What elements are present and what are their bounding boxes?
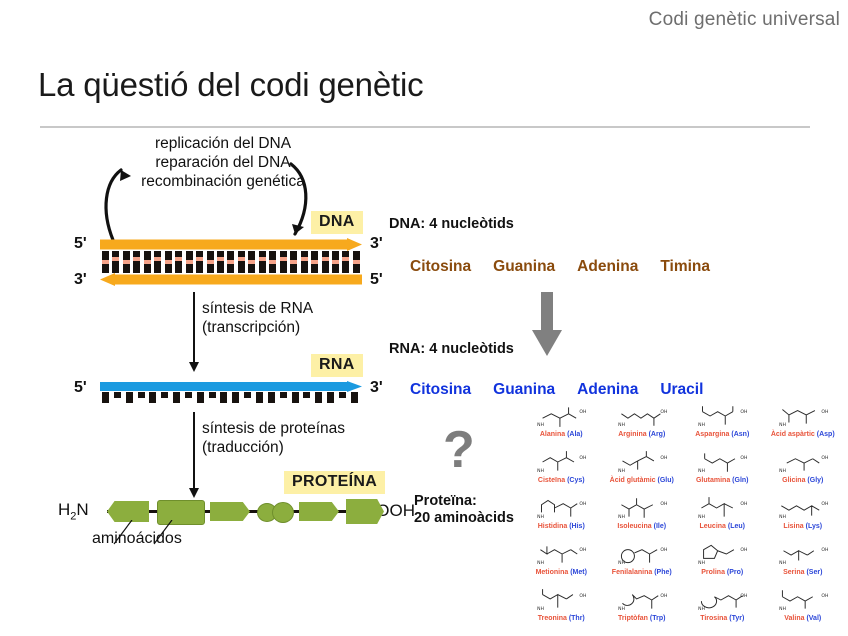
amino-acid-name-text: Treonina	[538, 615, 569, 622]
amino-acid-abbreviation: (Gly)	[807, 477, 823, 484]
base-pair	[280, 251, 287, 273]
base-pair	[353, 251, 360, 273]
amino-acid-abbreviation: (Leu)	[728, 523, 745, 530]
amino-acid-abbreviation: (Thr)	[569, 615, 585, 622]
rna-single-strand	[100, 381, 362, 403]
amino-acid-name: Triptòfan (Trp)	[602, 614, 683, 623]
amino-acid-name: Àcid glutàmic (Glu)	[602, 476, 683, 485]
replication-loop-arrow-icon	[95, 152, 325, 244]
rna-tick	[256, 392, 263, 403]
amino-acid-name: Isoleucina (Ile)	[602, 522, 683, 531]
rna-tick	[114, 392, 121, 398]
amino-acid-abbreviation: (Gln)	[732, 477, 748, 484]
base-pair	[112, 251, 119, 273]
rna-nucleotides-heading: RNA: 4 nucleòtids	[389, 341, 514, 357]
rna-tick	[149, 392, 156, 403]
rna-tick	[161, 392, 168, 398]
svg-text:OH: OH	[580, 501, 587, 507]
svg-text:OH: OH	[660, 547, 667, 553]
svg-text:OH: OH	[741, 501, 748, 507]
dna-3prime-top-tick: 3'	[370, 235, 383, 253]
svg-text:NH: NH	[779, 514, 786, 520]
amino-acid-cell: OHNHIsoleucina (Ile)	[602, 494, 683, 540]
amino-acid-name: Glutamina (Gln)	[682, 476, 763, 485]
base-pair	[342, 251, 349, 273]
amino-acid-residue	[272, 502, 294, 523]
amino-acid-abbreviation: (Lys)	[806, 523, 822, 530]
amino-acid-name: Fenilalanina (Phe)	[602, 568, 683, 577]
amino-acid-structure-icon: OHNH	[521, 494, 602, 522]
amino-acid-name-text: Arginina	[618, 431, 648, 438]
amino-acid-cell: OHNHProlina (Pro)	[682, 540, 763, 586]
amino-acid-structure-icon: OHNH	[682, 448, 763, 476]
dna-badge: DNA	[311, 211, 363, 234]
base-pair	[133, 251, 140, 273]
amino-acid-name: Prolina (Pro)	[682, 568, 763, 577]
base-pair	[165, 251, 172, 273]
dna-5prime-top-tick: 5'	[74, 235, 87, 253]
amino-acid-structure-icon: OHNH	[521, 586, 602, 614]
amino-acid-abbreviation: (Phe)	[654, 569, 672, 576]
translation-line-1: síntesis de proteínas	[202, 419, 345, 438]
svg-text:NH: NH	[537, 560, 544, 566]
n-terminus-label: H2N	[58, 500, 89, 522]
amino-acid-structure-icon: OHNH	[521, 448, 602, 476]
amino-acid-structure-icon: OHNH	[682, 540, 763, 568]
amino-acid-name: Metionina (Met)	[521, 568, 602, 577]
dna-3prime-bottom-tick: 3'	[74, 271, 87, 289]
rna-tick	[351, 392, 358, 403]
svg-text:OH: OH	[580, 455, 587, 461]
amino-acid-name-text: Aspargina	[695, 431, 731, 438]
amino-acid-abbreviation: (Val)	[806, 615, 821, 622]
amino-acid-cell: OHNHLisina (Lys)	[763, 494, 844, 540]
amino-acid-name-text: Fenilalanina	[612, 569, 654, 576]
svg-text:OH: OH	[741, 593, 748, 599]
amino-acid-structure-icon: OHNH	[682, 494, 763, 522]
svg-text:OH: OH	[660, 501, 667, 507]
amino-acid-name-text: Tirosina	[700, 615, 729, 622]
transcription-arrow-shaft	[193, 292, 195, 364]
svg-text:NH: NH	[698, 514, 705, 520]
rna-tick	[327, 392, 334, 403]
base-pair	[144, 251, 151, 273]
amino-acid-name: Àcid aspàrtic (Asp)	[763, 430, 844, 439]
amino-acid-cell: OHNHCisteïna (Cys)	[521, 448, 602, 494]
rna-3prime-tick: 3'	[370, 379, 383, 397]
amino-acid-residue	[210, 502, 250, 521]
amino-acid-name-text: Isoleucina	[617, 523, 653, 530]
amino-acid-cell: OHNHTirosina (Tyr)	[682, 586, 763, 632]
amino-acid-cell: OHNHHistidina (His)	[521, 494, 602, 540]
amino-acid-structure-icon: OHNH	[521, 540, 602, 568]
translation-line-2: (traducción)	[202, 438, 345, 457]
amino-acid-name-text: Cisteïna	[538, 477, 567, 484]
amino-acid-residue	[346, 499, 384, 524]
svg-text:OH: OH	[821, 455, 828, 461]
dna-5prime-bottom-tick: 5'	[370, 271, 383, 289]
translation-arrow-shaft	[193, 412, 195, 490]
n-terminus-n: N	[76, 500, 88, 519]
base-pair	[269, 251, 276, 273]
dna-to-rna-arrow-icon	[536, 292, 558, 356]
amino-acid-abbreviation: (His)	[569, 523, 585, 530]
amino-acid-residue	[107, 501, 149, 522]
amino-acid-name-text: Alanina	[540, 431, 567, 438]
amino-acid-name: Arginina (Arg)	[602, 430, 683, 439]
svg-text:NH: NH	[618, 468, 625, 474]
rna-tick	[173, 392, 180, 403]
base-pair	[102, 251, 109, 273]
amino-acid-name-text: Glicina	[782, 477, 807, 484]
amino-acid-structure-icon: OHNH	[763, 448, 844, 476]
amino-acid-structure-icon: OHNH	[763, 586, 844, 614]
rna-tick	[315, 392, 322, 403]
amino-acid-cell: OHNHGlicina (Gly)	[763, 448, 844, 494]
base-pair	[290, 251, 297, 273]
amino-acid-name: Histidina (His)	[521, 522, 602, 531]
nucleotide-adenina: Adenina	[577, 258, 638, 276]
base-pair	[227, 251, 234, 273]
rna-tick	[339, 392, 346, 398]
base-pair	[311, 251, 318, 273]
amino-acid-abbreviation: (Arg)	[649, 431, 666, 438]
amino-acid-cell: OHNHFenilalanina (Phe)	[602, 540, 683, 586]
slide-root: Codi genètic universal La qüestió del co…	[0, 0, 848, 636]
amino-acid-cell: OHNHTreonina (Thr)	[521, 586, 602, 632]
rna-tick	[126, 392, 133, 403]
amino-acid-name: Glicina (Gly)	[763, 476, 844, 485]
amino-acid-abbreviation: (Cys)	[567, 477, 585, 484]
dna-nucleotide-list: Citosina Guanina Adenina Timina	[410, 258, 710, 276]
nucleotide-adenina-rna: Adenina	[577, 381, 638, 399]
loop-line-1: replicación del DNA	[108, 134, 338, 153]
svg-text:NH: NH	[537, 468, 544, 474]
amino-acid-cell: OHNHGlutamina (Gln)	[682, 448, 763, 494]
base-pair	[301, 251, 308, 273]
nucleotide-guanina: Guanina	[493, 258, 555, 276]
amino-acid-name-text: Glutamina	[696, 477, 732, 484]
rna-nucleotide-ticks	[102, 392, 358, 403]
question-mark: ?	[443, 424, 475, 476]
svg-text:NH: NH	[618, 606, 625, 612]
amino-acid-abbreviation: (Asn)	[731, 431, 749, 438]
base-pair	[186, 251, 193, 273]
amino-acid-name: Treonina (Thr)	[521, 614, 602, 623]
amino-acid-abbreviation: (Met)	[570, 569, 587, 576]
amino-acid-abbreviation: (Asp)	[817, 431, 835, 438]
amino-acid-abbreviation: (Pro)	[727, 569, 743, 576]
header-title: Codi genètic universal	[649, 9, 840, 31]
svg-text:OH: OH	[821, 593, 828, 599]
title-divider	[40, 126, 810, 128]
dna-coding-strand-arrow	[100, 273, 362, 286]
svg-text:NH: NH	[698, 468, 705, 474]
amino-acid-name: Alanina (Ala)	[521, 430, 602, 439]
rna-5prime-tick: 5'	[74, 379, 87, 397]
rna-badge: RNA	[311, 354, 363, 377]
svg-text:NH: NH	[537, 514, 544, 520]
amino-acid-structure-icon: OHNH	[602, 586, 683, 614]
amino-acid-name: Tirosina (Tyr)	[682, 614, 763, 623]
svg-text:OH: OH	[821, 501, 828, 507]
nucleotide-timina: Timina	[660, 258, 710, 276]
rna-nucleotide-list: Citosina Guanina Adenina Uracil	[410, 381, 703, 399]
rna-tick	[232, 392, 239, 403]
svg-text:OH: OH	[580, 593, 587, 599]
svg-text:OH: OH	[821, 547, 828, 553]
svg-text:NH: NH	[779, 468, 786, 474]
amino-acid-abbreviation: (Tyr)	[729, 615, 744, 622]
amino-acid-structure-icon: OHNH	[763, 494, 844, 522]
amino-acid-cell: OHNHAspargina (Asn)	[682, 402, 763, 448]
amino-acid-name: Serina (Ser)	[763, 568, 844, 577]
rna-tick	[209, 392, 216, 398]
amino-acid-cell: OHNHLeucina (Leu)	[682, 494, 763, 540]
amino-acid-structure-icon: OHNH	[521, 402, 602, 430]
rna-tick	[268, 392, 275, 403]
amino-acid-name: Cisteïna (Cys)	[521, 476, 602, 485]
base-pair	[322, 251, 329, 273]
amino-acid-name: Aspargina (Asn)	[682, 430, 763, 439]
rna-tick	[303, 392, 310, 398]
svg-text:OH: OH	[741, 547, 748, 553]
base-pair	[217, 251, 224, 273]
page-title: La qüestió del codi genètic	[38, 66, 423, 104]
svg-text:OH: OH	[660, 593, 667, 599]
amino-acid-name-text: Histidina	[538, 523, 570, 530]
rna-tick	[138, 392, 145, 398]
svg-text:NH: NH	[618, 422, 625, 428]
svg-text:NH: NH	[698, 606, 705, 612]
svg-text:OH: OH	[660, 409, 667, 415]
base-pair	[238, 251, 245, 273]
transcription-line-2: (transcripción)	[202, 318, 313, 337]
amino-acid-residue	[299, 502, 339, 521]
amino-acid-structure-icon: OHNH	[602, 494, 683, 522]
amino-acid-cell: OHNHÀcid glutàmic (Glu)	[602, 448, 683, 494]
amino-acid-name: Valina (Val)	[763, 614, 844, 623]
amino-acid-cell: OHNHArginina (Arg)	[602, 402, 683, 448]
dna-base-pair-ladder	[102, 251, 360, 273]
amino-acid-abbreviation: (Glu)	[658, 477, 674, 484]
svg-text:OH: OH	[741, 455, 748, 461]
svg-text:NH: NH	[537, 606, 544, 612]
amino-acid-name-text: Àcid glutàmic	[610, 477, 658, 484]
svg-text:NH: NH	[779, 606, 786, 612]
base-pair	[332, 251, 339, 273]
amino-acid-cell: OHNHSerina (Ser)	[763, 540, 844, 586]
amino-acid-abbreviation: (Trp)	[650, 615, 666, 622]
rna-tick	[292, 392, 299, 403]
dna-nucleotides-heading: DNA: 4 nucleòtids	[389, 216, 514, 232]
protein-amino-acid-count-label: Proteïna: 20 aminoàcids	[414, 493, 514, 527]
rna-tick	[102, 392, 109, 403]
svg-text:NH: NH	[618, 514, 625, 520]
amino-acids-annotation: aminoácidos	[92, 530, 182, 548]
svg-text:OH: OH	[580, 409, 587, 415]
svg-text:NH: NH	[698, 422, 705, 428]
translation-label: síntesis de proteínas (traducción)	[202, 419, 345, 457]
dna-template-strand-arrow	[100, 238, 362, 251]
amino-acid-name-text: Valina	[784, 615, 806, 622]
amino-acid-cell: OHNHÀcid aspàrtic (Asp)	[763, 402, 844, 448]
svg-text:OH: OH	[660, 455, 667, 461]
base-pair	[175, 251, 182, 273]
amino-acid-name-text: Prolina	[701, 569, 727, 576]
nucleotide-citosina: Citosina	[410, 258, 471, 276]
base-pair	[207, 251, 214, 273]
amino-acid-structure-icon: OHNH	[682, 402, 763, 430]
svg-text:NH: NH	[698, 560, 705, 566]
dna-double-strand	[100, 238, 362, 286]
amino-acid-structure-icon: OHNH	[763, 402, 844, 430]
amino-acid-name-text: Leucina	[699, 523, 727, 530]
rna-tick	[280, 392, 287, 398]
n-terminus-h: H	[58, 500, 70, 519]
amino-acid-name: Leucina (Leu)	[682, 522, 763, 531]
amino-acid-structure-icon: OHNH	[602, 540, 683, 568]
base-pair	[259, 251, 266, 273]
amino-acid-name-text: Lisina	[783, 523, 805, 530]
amino-acid-structure-icon: OHNH	[682, 586, 763, 614]
base-pair	[123, 251, 130, 273]
protein-label-line-2: 20 aminoàcids	[414, 510, 514, 527]
amino-acid-abbreviation: (Ser)	[806, 569, 822, 576]
svg-text:OH: OH	[821, 409, 828, 415]
amino-acid-cell: OHNHValina (Val)	[763, 586, 844, 632]
amino-acid-structure-icon: OHNH	[602, 448, 683, 476]
nucleotide-citosina-rna: Citosina	[410, 381, 471, 399]
amino-acid-abbreviation: (Ile)	[654, 523, 666, 530]
protein-badge: PROTEÍNA	[284, 471, 385, 494]
amino-acid-name: Lisina (Lys)	[763, 522, 844, 531]
base-pair	[248, 251, 255, 273]
svg-text:NH: NH	[537, 422, 544, 428]
amino-acid-cell: OHNHMetionina (Met)	[521, 540, 602, 586]
rna-tick	[185, 392, 192, 398]
amino-acid-name-text: Àcid aspàrtic	[771, 431, 817, 438]
transcription-label: síntesis de RNA (transcripción)	[202, 299, 313, 337]
transcription-line-1: síntesis de RNA	[202, 299, 313, 318]
amino-acid-cell: OHNHTriptòfan (Trp)	[602, 586, 683, 632]
amino-acid-name-text: Metionina	[536, 569, 571, 576]
amino-acid-structure-icon: OHNH	[763, 540, 844, 568]
amino-acid-abbreviation: (Ala)	[567, 431, 583, 438]
svg-text:OH: OH	[741, 409, 748, 415]
rna-strand-arrow	[100, 381, 362, 392]
base-pair	[154, 251, 161, 273]
rna-tick	[197, 392, 204, 403]
amino-acid-name-text: Serina	[783, 569, 806, 576]
translation-arrow-head	[189, 488, 199, 498]
svg-text:NH: NH	[618, 560, 625, 566]
nucleotide-guanina-rna: Guanina	[493, 381, 555, 399]
svg-text:OH: OH	[580, 547, 587, 553]
protein-label-line-1: Proteïna:	[414, 493, 514, 510]
amino-acid-grid: OHNHAlanina (Ala)OHNHArginina (Arg)OHNHA…	[521, 402, 843, 632]
rna-tick	[244, 392, 251, 398]
amino-acid-name-text: Triptòfan	[618, 615, 650, 622]
svg-text:NH: NH	[779, 422, 786, 428]
transcription-arrow-head	[189, 362, 199, 372]
amino-acid-structure-icon: OHNH	[602, 402, 683, 430]
amino-acid-cell: OHNHAlanina (Ala)	[521, 402, 602, 448]
rna-tick	[220, 392, 227, 403]
base-pair	[196, 251, 203, 273]
svg-text:NH: NH	[779, 560, 786, 566]
nucleotide-uracil: Uracil	[660, 381, 703, 399]
